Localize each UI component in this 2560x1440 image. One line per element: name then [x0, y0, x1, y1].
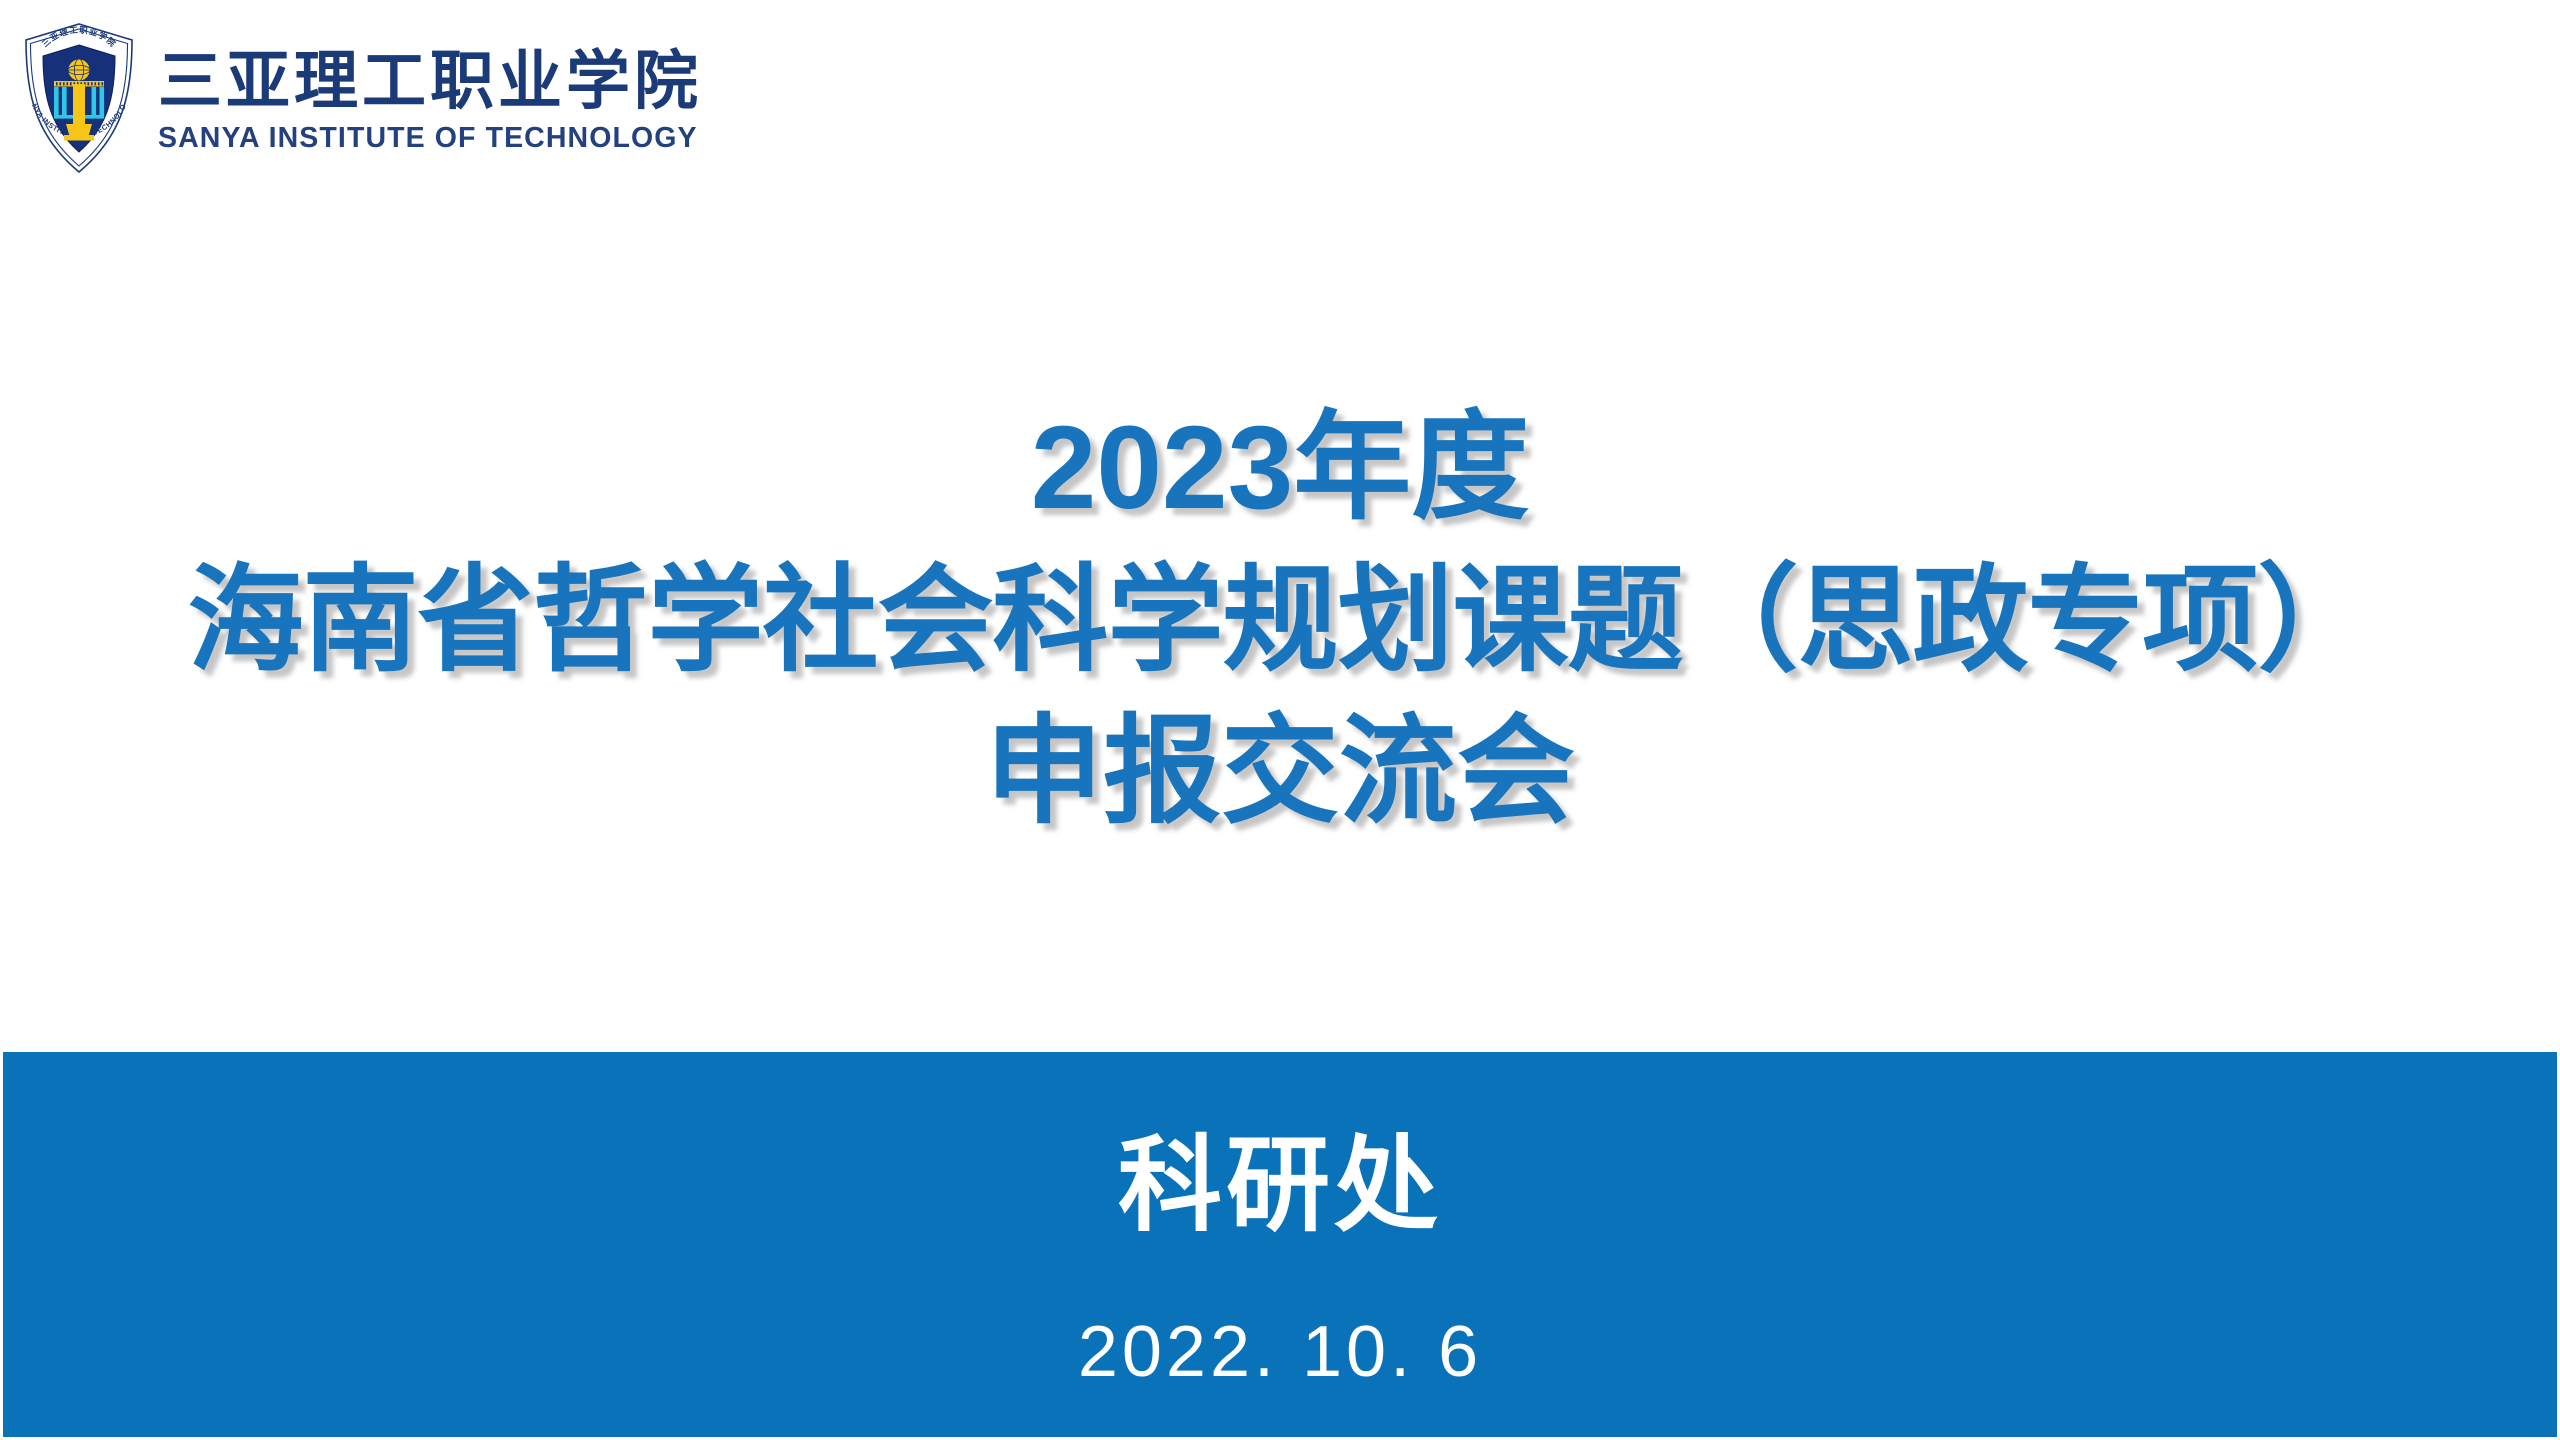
shield-emblem-icon: 三亚理工职业学院 SANYA INSTITUTE OF TECHNOLOGY: [18, 18, 140, 178]
slide-title: 2023年度 海南省哲学社会科学规划课题（思政专项） 申报交流会: [0, 392, 2560, 850]
logo-wordmark: 三亚理工职业学院 SANYA INSTITUTE OF TECHNOLOGY: [158, 41, 702, 155]
logo-name-en: SANYA INSTITUTE OF TECHNOLOGY: [158, 122, 702, 155]
footer-organization: 科研处: [1118, 1134, 1442, 1238]
title-line-2: 海南省哲学社会科学规划课题（思政专项）: [30, 545, 2530, 696]
footer-date: 2022. 10. 6: [1078, 1316, 1482, 1388]
title-line-1: 2023年度: [30, 392, 2530, 545]
logo-name-cn: 三亚理工职业学院: [158, 47, 702, 116]
footer-band: 科研处 2022. 10. 6: [3, 1052, 2557, 1437]
university-logo: 三亚理工职业学院 SANYA INSTITUTE OF TECHNOLOGY: [18, 18, 702, 178]
presentation-slide: 三亚理工职业学院 SANYA INSTITUTE OF TECHNOLOGY: [0, 0, 2560, 1440]
title-line-3: 申报交流会: [30, 696, 2530, 849]
